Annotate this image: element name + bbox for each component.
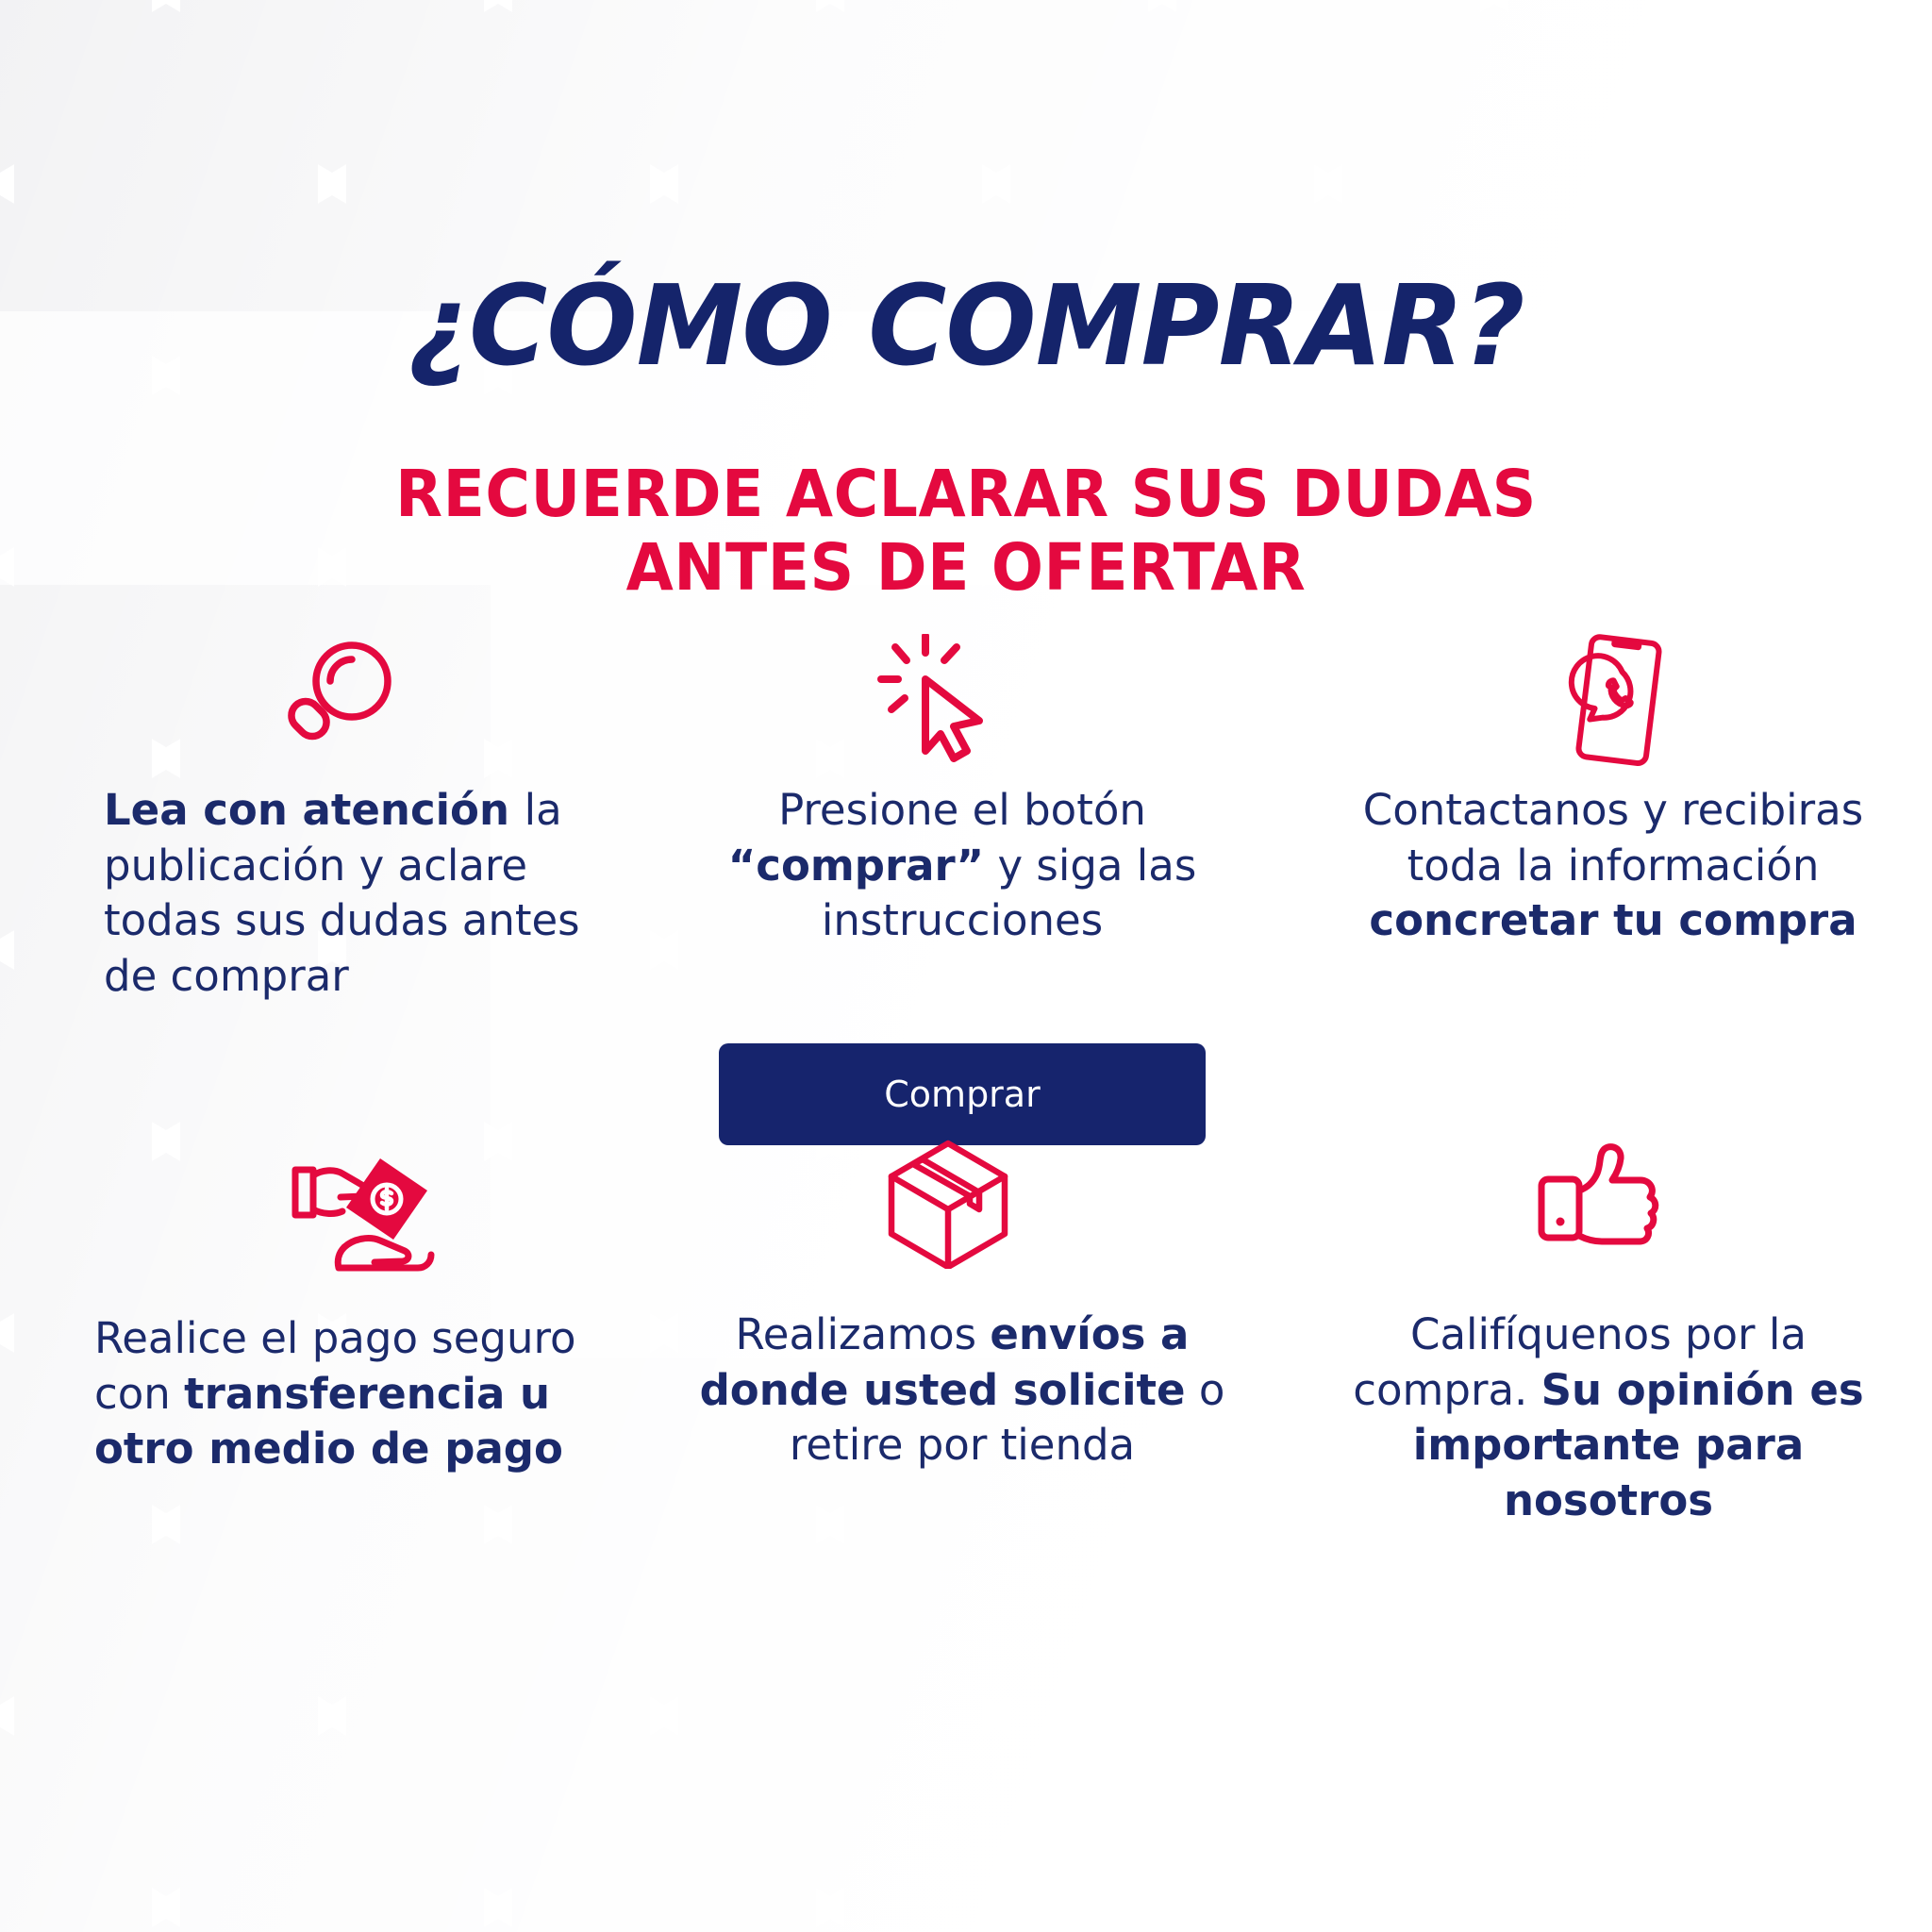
text-bold-part: Lea con atención xyxy=(104,785,525,835)
magnifier-icon xyxy=(274,637,406,774)
thumbs-up-icon xyxy=(1528,1123,1674,1269)
page-subtitle: RECUERDE ACLARAR SUS DUDAS ANTES DE OFER… xyxy=(58,458,1874,606)
steps-grid: Lea con atención la publicación y aclare… xyxy=(0,651,1932,1594)
step-card-text: Contactanos y recibiras toda la informac… xyxy=(1340,783,1887,949)
subtitle-line-2: ANTES DE OFERTAR xyxy=(58,532,1874,606)
step-card-text: Realizamos envíos a donde usted solicite… xyxy=(689,1307,1236,1474)
step-card-text: Califíquenos por la compra. Su opinión e… xyxy=(1335,1307,1882,1528)
money-hand-icon xyxy=(288,1141,448,1288)
step-card-text: Realice el pago seguro con transferencia… xyxy=(94,1311,594,1477)
page-title: ¿CÓMO COMPRAR? xyxy=(39,270,1893,381)
package-box-icon xyxy=(877,1123,1019,1274)
text-normal-part: Contactanos y recibiras toda la informac… xyxy=(1363,785,1863,891)
subtitle-line-1: RECUERDE ACLARAR SUS DUDAS xyxy=(58,458,1874,532)
step-card-text: Lea con atención la publicación y aclare… xyxy=(104,783,632,1004)
subtitle-wrap: RECUERDE ACLARAR SUS DUDAS ANTES DE OFER… xyxy=(0,458,1932,606)
text-normal-part: Presione el botón xyxy=(778,785,1146,835)
whatsapp-phone-icon xyxy=(1557,625,1679,780)
click-cursor-icon xyxy=(873,634,1005,775)
step-card-text: Presione el botón “comprar” y siga las i… xyxy=(689,783,1236,949)
text-normal-part: Realizamos xyxy=(736,1309,991,1359)
page-title-wrap: ¿CÓMO COMPRAR? xyxy=(0,270,1932,381)
text-bold-part: “comprar” xyxy=(728,841,984,891)
text-bold-part: concretar tu compra xyxy=(1369,895,1857,945)
